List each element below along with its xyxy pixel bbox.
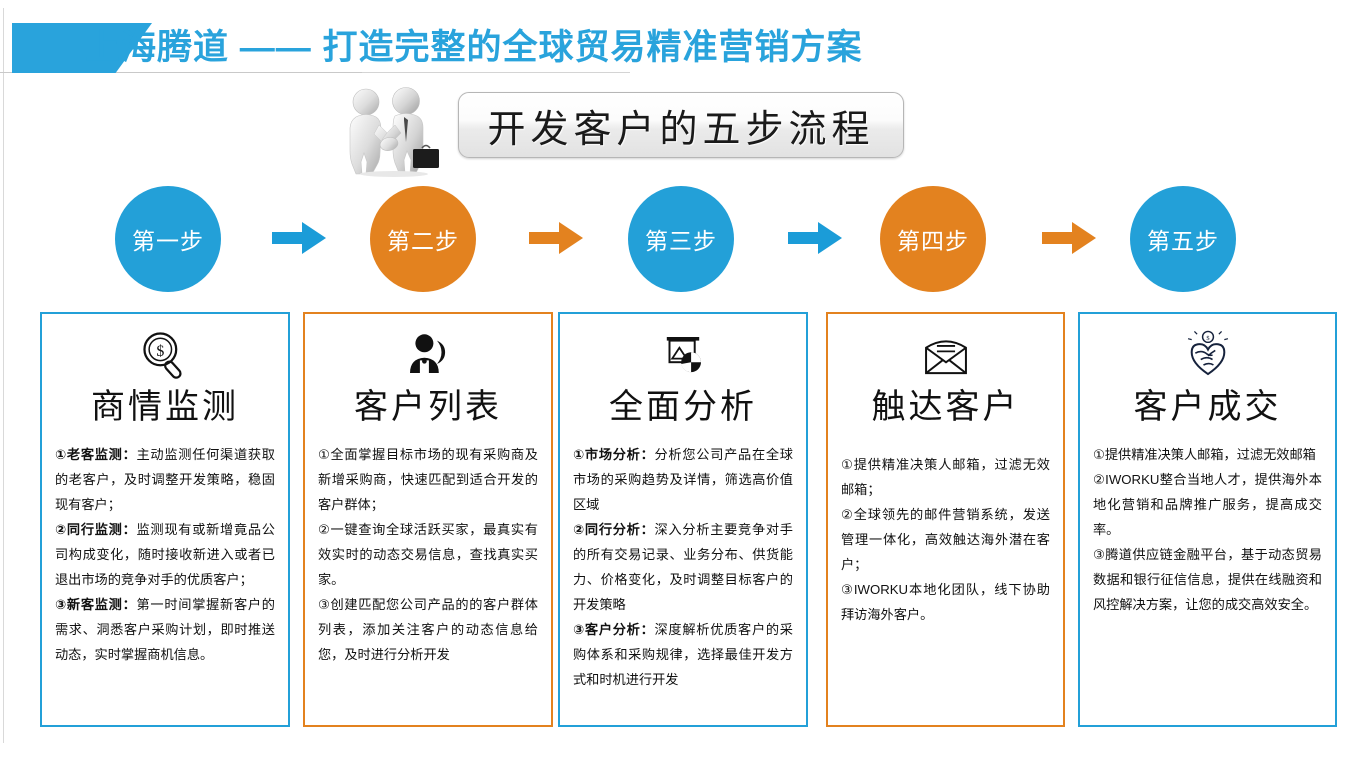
card-4[interactable]: 触达客户 ①提供精准决策人邮箱，过滤无效邮箱； ②全球领先的邮件营销系统，发送管… (826, 312, 1065, 727)
svg-text:$: $ (1206, 335, 1209, 342)
card-1[interactable]: $ 商情监测 ①老客监测：主动监测任何渠道获取的老客户，及时调整开发策略，稳固现… (40, 312, 290, 727)
step-circle-2[interactable]: 第二步 (370, 186, 476, 292)
step-circle-1[interactable]: 第一步 (115, 186, 221, 292)
page-title: 上海腾道 —— 打造完整的全球贸易精准营销方案 (85, 22, 862, 74)
step-label-1: 第一步 (132, 222, 204, 256)
envelope-icon (828, 324, 1063, 386)
card-item-text: ③创建匹配您公司产品的的客户群体列表，添加关注客户的动态信息给您，及时进行分析开… (318, 597, 538, 662)
card-item-text: ②全球领先的邮件营销系统，发送管理一体化，高效触达海外潜在客户； (841, 507, 1050, 572)
step-circle-5[interactable]: 第五步 (1130, 186, 1236, 292)
banner-title-box: 开发客户的五步流程 (458, 92, 904, 158)
step-label-2: 第二步 (387, 222, 459, 256)
step-arrow-3 (786, 220, 846, 256)
card-item: ②全球领先的邮件营销系统，发送管理一体化，高效触达海外潜在客户； (841, 502, 1050, 577)
step-circle-4[interactable]: 第四步 (880, 186, 986, 292)
card-item: ①提供精准决策人邮箱，过滤无效邮箱 (1093, 442, 1322, 467)
step-label-3: 第三步 (645, 222, 717, 256)
card-item-label: ①老客监测： (55, 447, 137, 462)
card-item: ①提供精准决策人邮箱，过滤无效邮箱； (841, 452, 1050, 502)
card-item-label: ③客户分析： (573, 622, 655, 637)
presentation-chart-icon (560, 324, 806, 386)
card-item-text: ②一键查询全球活跃买家，最真实有效实时的动态交易信息，查找真实买家。 (318, 522, 538, 587)
card-item: ②同行监测：监测现有或新增竟品公司构成变化，随时接收新进入或者已退出市场的竞争对… (55, 517, 275, 592)
card-item: ③客户分析：深度解析优质客户的采购体系和采购规律，选择最佳开发方式和时机进行开发 (573, 617, 793, 692)
step-row: 第一步 第二步 第三步 第四步 (0, 186, 1362, 292)
card-body-4: ①提供精准决策人邮箱，过滤无效邮箱； ②全球领先的邮件营销系统，发送管理一体化，… (841, 452, 1050, 627)
card-item-text: ①提供精准决策人邮箱，过滤无效邮箱 (1093, 447, 1316, 462)
card-title-3: 全面分析 (560, 388, 806, 428)
card-item: ①市场分析：分析您公司产品在全球市场的采购趋势及详情，筛选高价值区域 (573, 442, 793, 517)
card-title-1: 商情监测 (42, 388, 288, 428)
step-arrow-1 (270, 220, 330, 256)
card-item-text: ③IWORKU本地化团队，线下协助拜访海外客户。 (841, 582, 1050, 622)
left-rule (3, 8, 4, 743)
card-body-2: ①全面掌握目标市场的现有采购商及新增采购商，快速匹配到适合开发的客户群体； ②一… (318, 442, 538, 667)
card-item-label: ②同行监测： (55, 522, 137, 537)
user-group-icon (305, 324, 551, 386)
card-item-text: ②IWORKU整合当地人才，提供海外本地化营销和品牌推广服务，提高成交率。 (1093, 472, 1322, 537)
card-item-label: ③新客监测： (55, 597, 137, 612)
card-item: ②一键查询全球活跃买家，最真实有效实时的动态交易信息，查找真实买家。 (318, 517, 538, 592)
card-2[interactable]: 客户列表 ①全面掌握目标市场的现有采购商及新增采购商，快速匹配到适合开发的客户群… (303, 312, 553, 727)
card-item-text: ③腾道供应链金融平台，基于动态贸易数据和银行征信信息，提供在线融资和风控解决方案… (1093, 547, 1322, 612)
card-body-3: ①市场分析：分析您公司产品在全球市场的采购趋势及详情，筛选高价值区域 ②同行分析… (573, 442, 793, 692)
slide-root: 上海腾道 —— 打造完整的全球贸易精准营销方案 (0, 0, 1362, 770)
card-title-2: 客户列表 (305, 388, 551, 428)
card-item: ①全面掌握目标市场的现有采购商及新增采购商，快速匹配到适合开发的客户群体； (318, 442, 538, 517)
step-circle-3[interactable]: 第三步 (628, 186, 734, 292)
step-arrow-4 (1040, 220, 1100, 256)
card-item: ③创建匹配您公司产品的的客户群体列表，添加关注客户的动态信息给您，及时进行分析开… (318, 592, 538, 667)
card-item: ③IWORKU本地化团队，线下协助拜访海外客户。 (841, 577, 1050, 627)
card-title-4: 触达客户 (828, 388, 1063, 428)
card-body-5: ①提供精准决策人邮箱，过滤无效邮箱 ②IWORKU整合当地人才，提供海外本地化营… (1093, 442, 1322, 617)
magnifier-dollar-icon: $ (42, 324, 288, 386)
banner-title-text: 开发客户的五步流程 (487, 98, 874, 153)
card-item: ③新客监测：第一时间掌握新客户的需求、洞悉客户采购计划，即时推送动态，实时掌握商… (55, 592, 275, 667)
step-label-4: 第四步 (897, 222, 969, 256)
card-5[interactable]: $ 客户成交 ①提供精准决策人邮箱，过滤无效邮箱 ②IWORKU整合当地人才，提… (1078, 312, 1337, 727)
step-label-5: 第五步 (1147, 222, 1219, 256)
card-item: ②同行分析：深入分析主要竞争对手的所有交易记录、业务分布、供货能力、价格变化，及… (573, 517, 793, 617)
svg-text:$: $ (156, 343, 164, 360)
card-item: ①老客监测：主动监测任何渠道获取的老客户，及时调整开发策略，稳固现有客户； (55, 442, 275, 517)
card-3[interactable]: 全面分析 ①市场分析：分析您公司产品在全球市场的采购趋势及详情，筛选高价值区域 … (558, 312, 808, 727)
card-item: ③腾道供应链金融平台，基于动态贸易数据和银行征信信息，提供在线融资和风控解决方案… (1093, 542, 1322, 617)
step-arrow-2 (527, 220, 587, 256)
card-title-5: 客户成交 (1080, 388, 1335, 428)
card-item-text: ①全面掌握目标市场的现有采购商及新增采购商，快速匹配到适合开发的客户群体； (318, 447, 538, 512)
card-item-text: ①提供精准决策人邮箱，过滤无效邮箱； (841, 457, 1050, 497)
handshake-people-icon (338, 85, 450, 177)
card-item-label: ①市场分析： (573, 447, 655, 462)
card-item: ②IWORKU整合当地人才，提供海外本地化营销和品牌推广服务，提高成交率。 (1093, 467, 1322, 542)
handshake-heart-icon: $ (1080, 324, 1335, 386)
card-item-label: ②同行分析： (573, 522, 655, 537)
card-body-1: ①老客监测：主动监测任何渠道获取的老客户，及时调整开发策略，稳固现有客户； ②同… (55, 442, 275, 667)
